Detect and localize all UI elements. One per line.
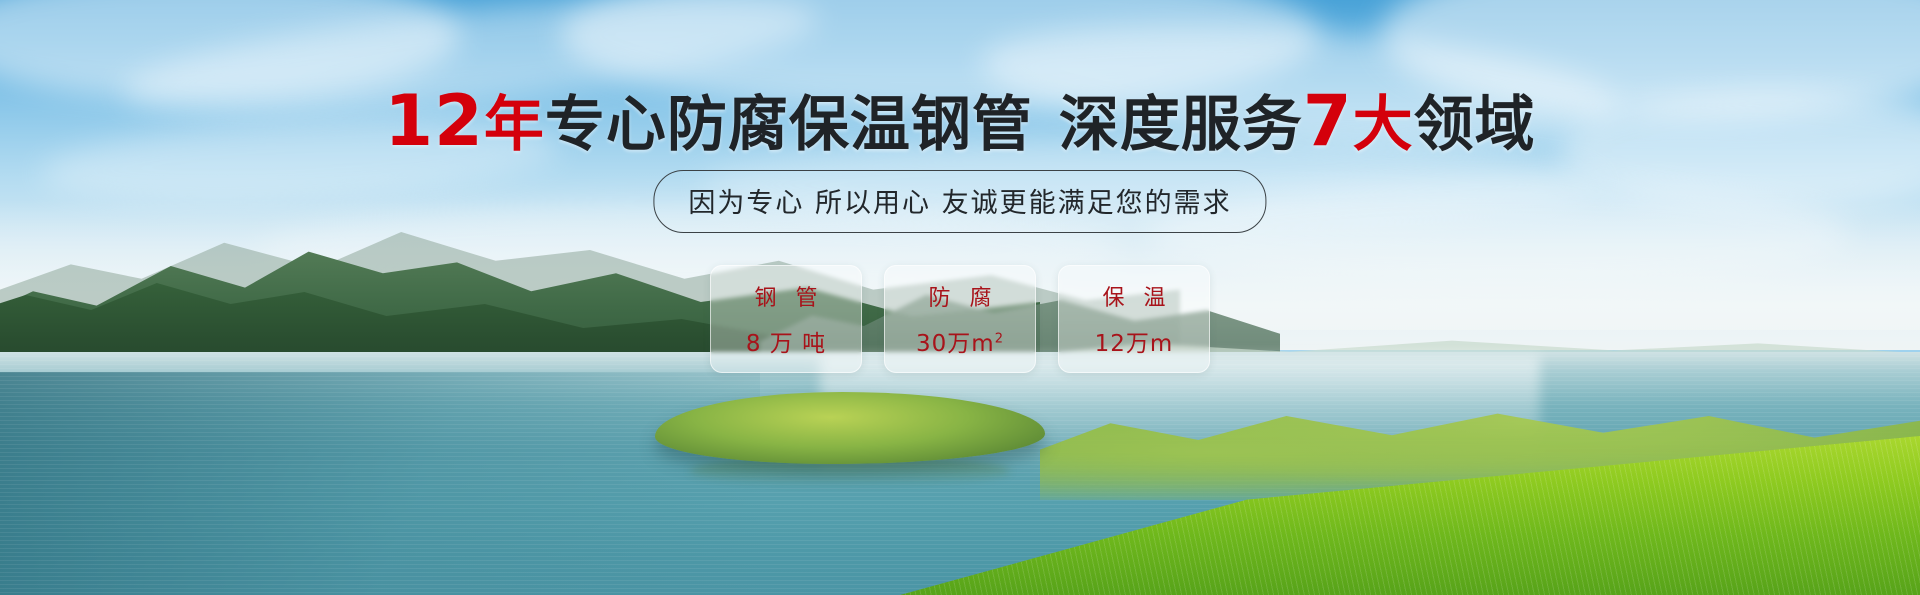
stat-label: 保 温 xyxy=(1097,280,1172,312)
hero-banner: 12年专心防腐保温钢管深度服务7大领域 因为专心 所以用心 友诚更能满足您的需求… xyxy=(0,0,1920,595)
headline-fields-number: 7 xyxy=(1303,80,1353,162)
stat-value-text: 12万m xyxy=(1095,331,1174,357)
stat-value: 12万m xyxy=(1095,324,1174,358)
stat-value: 30万m2 xyxy=(916,324,1004,358)
stat-label: 防 腐 xyxy=(923,280,998,312)
headline-fields-unit: 大 xyxy=(1353,90,1414,160)
banner-subtitle: 因为专心 所以用心 友诚更能满足您的需求 xyxy=(653,170,1266,233)
banner-headline: 12年专心防腐保温钢管深度服务7大领域 xyxy=(0,86,1920,156)
headline-part-3: 领域 xyxy=(1414,90,1536,160)
headline-years-unit: 年 xyxy=(484,90,545,160)
stat-value-text: 30万m xyxy=(916,331,995,357)
stat-card-anticorrosion[interactable]: 防 腐 30万m2 xyxy=(884,265,1036,373)
stat-card-steel-pipe[interactable]: 钢 管 8 万 吨 xyxy=(710,265,862,373)
headline-years-number: 12 xyxy=(384,80,483,162)
headline-part-2: 深度服务 xyxy=(1059,90,1303,160)
stat-value: 8 万 吨 xyxy=(746,324,826,358)
stat-value-exponent: 2 xyxy=(995,331,1004,346)
headline-part-1: 专心防腐保温钢管 xyxy=(545,90,1033,160)
stat-card-list: 钢 管 8 万 吨 防 腐 30万m2 保 温 12万m xyxy=(710,265,1210,373)
stat-value-text: 8 万 吨 xyxy=(746,331,826,357)
stat-card-insulation[interactable]: 保 温 12万m xyxy=(1058,265,1210,373)
stat-label: 钢 管 xyxy=(749,280,824,312)
